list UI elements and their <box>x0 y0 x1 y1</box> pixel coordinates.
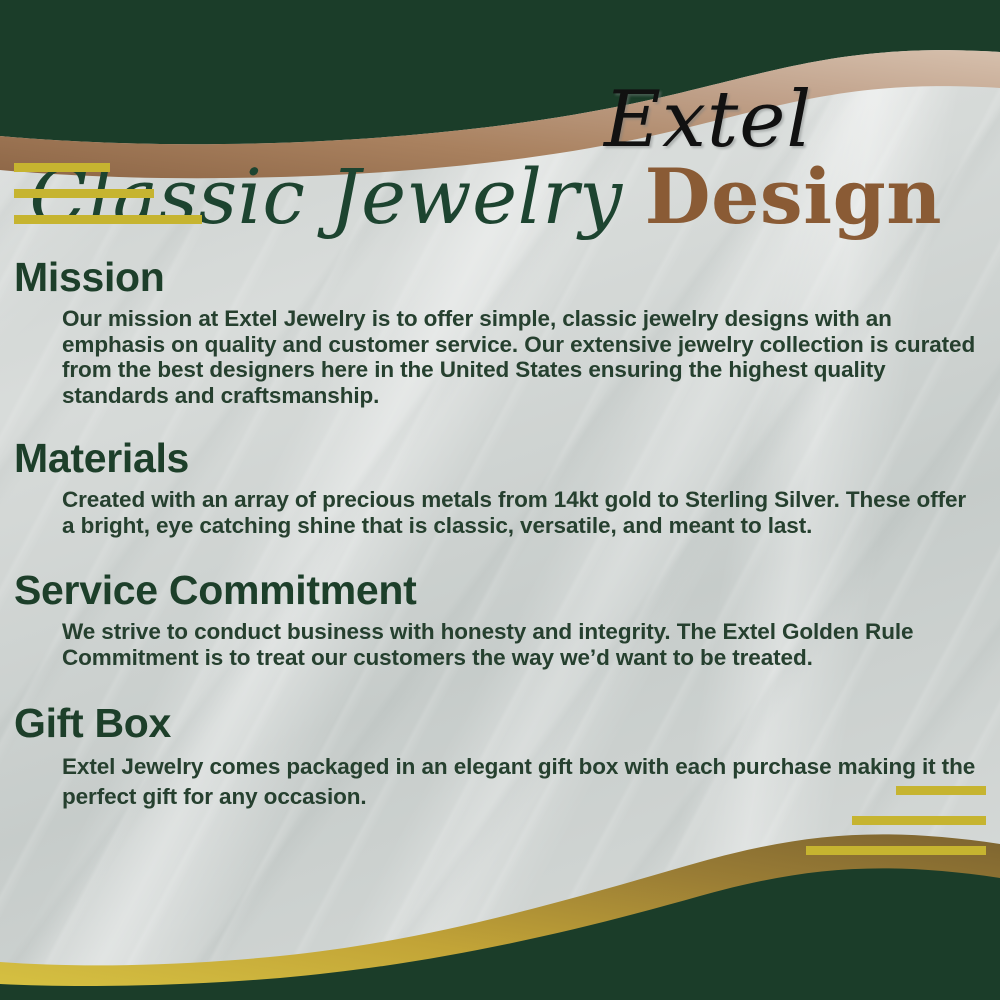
section-body-service-commitment: We strive to conduct business with hones… <box>62 619 976 670</box>
section-heading-service-commitment: Service Commitment <box>14 565 1000 615</box>
section-heading-gift-box: Gift Box <box>14 698 1000 748</box>
section-mission: Mission Our mission at Extel Jewelry is … <box>0 252 1000 408</box>
section-heading-materials: Materials <box>14 433 1000 483</box>
section-service-commitment: Service Commitment We strive to conduct … <box>0 565 1000 670</box>
poster-canvas: Extel Classic Jewelry Design Mission Our… <box>0 0 1000 1000</box>
section-materials: Materials Created with an array of preci… <box>0 433 1000 538</box>
section-body-materials: Created with an array of precious metals… <box>62 487 976 538</box>
gold-line <box>14 215 202 224</box>
gold-line <box>806 846 986 855</box>
section-body-gift-box: Extel Jewelry comes packaged in an elega… <box>62 752 976 812</box>
section-gift-box: Gift Box Extel Jewelry comes packaged in… <box>0 698 1000 812</box>
gold-line <box>14 163 110 172</box>
section-heading-mission: Mission <box>14 252 1000 302</box>
content-sections: Mission Our mission at Extel Jewelry is … <box>0 252 1000 820</box>
section-body-mission: Our mission at Extel Jewelry is to offer… <box>62 306 976 408</box>
gold-line <box>14 189 154 198</box>
title-design: Design <box>645 152 942 241</box>
gold-lines-top-left <box>14 163 202 241</box>
